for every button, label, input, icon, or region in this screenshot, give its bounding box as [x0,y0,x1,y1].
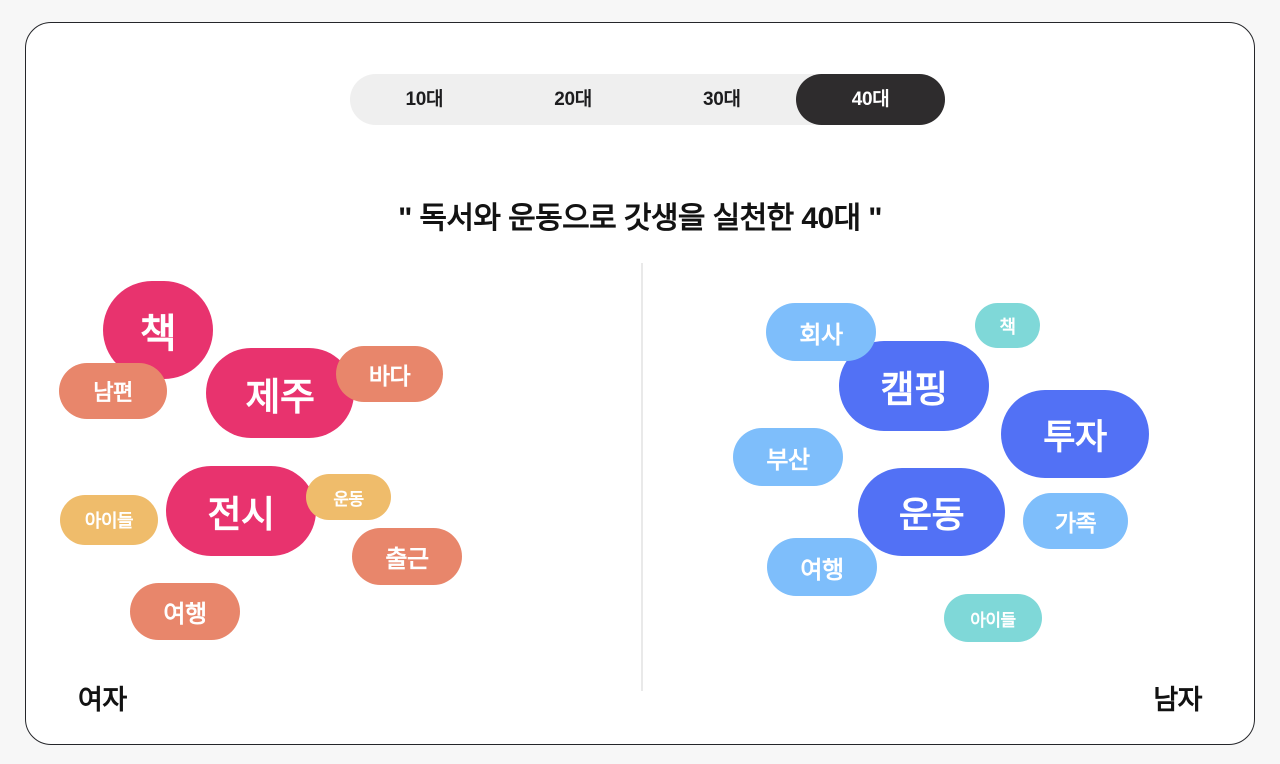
wordcloud-bubble-남자-투자[interactable]: 투자 [1001,390,1149,478]
wordcloud-bubble-여자-여행[interactable]: 여행 [130,583,240,640]
wordcloud-bubble-남자-여행[interactable]: 여행 [767,538,877,596]
wordcloud-bubble-여자-아이들[interactable]: 아이들 [60,495,158,545]
page-title: " 독서와 운동으로 갓생을 실천한 40대 " [26,193,1254,237]
tab-age-30대[interactable]: 30대 [648,74,797,125]
wordcloud-panel-male: 캠핑운동투자회사부산여행가족책아이들 [643,263,1231,693]
tab-age-40대[interactable]: 40대 [796,74,945,125]
wordcloud-bubble-여자-제주[interactable]: 제주 [206,348,354,438]
tab-age-10대[interactable]: 10대 [350,74,499,125]
wordcloud-bubble-남자-회사[interactable]: 회사 [766,303,876,361]
wordcloud-bubble-남자-책[interactable]: 책 [975,303,1040,348]
wordcloud-bubble-남자-가족[interactable]: 가족 [1023,493,1128,549]
wordcloud-bubble-여자-남편[interactable]: 남편 [59,363,167,419]
wordcloud-bubble-여자-바다[interactable]: 바다 [336,346,443,402]
wordcloud-bubble-남자-아이들[interactable]: 아이들 [944,594,1042,642]
main-card: 10대20대30대40대 " 독서와 운동으로 갓생을 실천한 40대 " 책제… [25,22,1255,745]
wordcloud-bubble-남자-운동[interactable]: 운동 [858,468,1005,556]
wordcloud-bubble-여자-운동[interactable]: 운동 [306,474,391,520]
age-group-tabbar[interactable]: 10대20대30대40대 [350,74,945,125]
tab-age-20대[interactable]: 20대 [499,74,648,125]
gender-label-female: 여자 [78,678,127,717]
wordcloud-panel-female: 책제주전시남편바다출근여행아이들운동 [51,263,641,693]
wordcloud-bubble-여자-출근[interactable]: 출근 [352,528,462,585]
wordcloud-bubble-여자-전시[interactable]: 전시 [166,466,316,556]
gender-label-male: 남자 [1153,678,1202,717]
wordcloud-bubble-남자-부산[interactable]: 부산 [733,428,843,486]
